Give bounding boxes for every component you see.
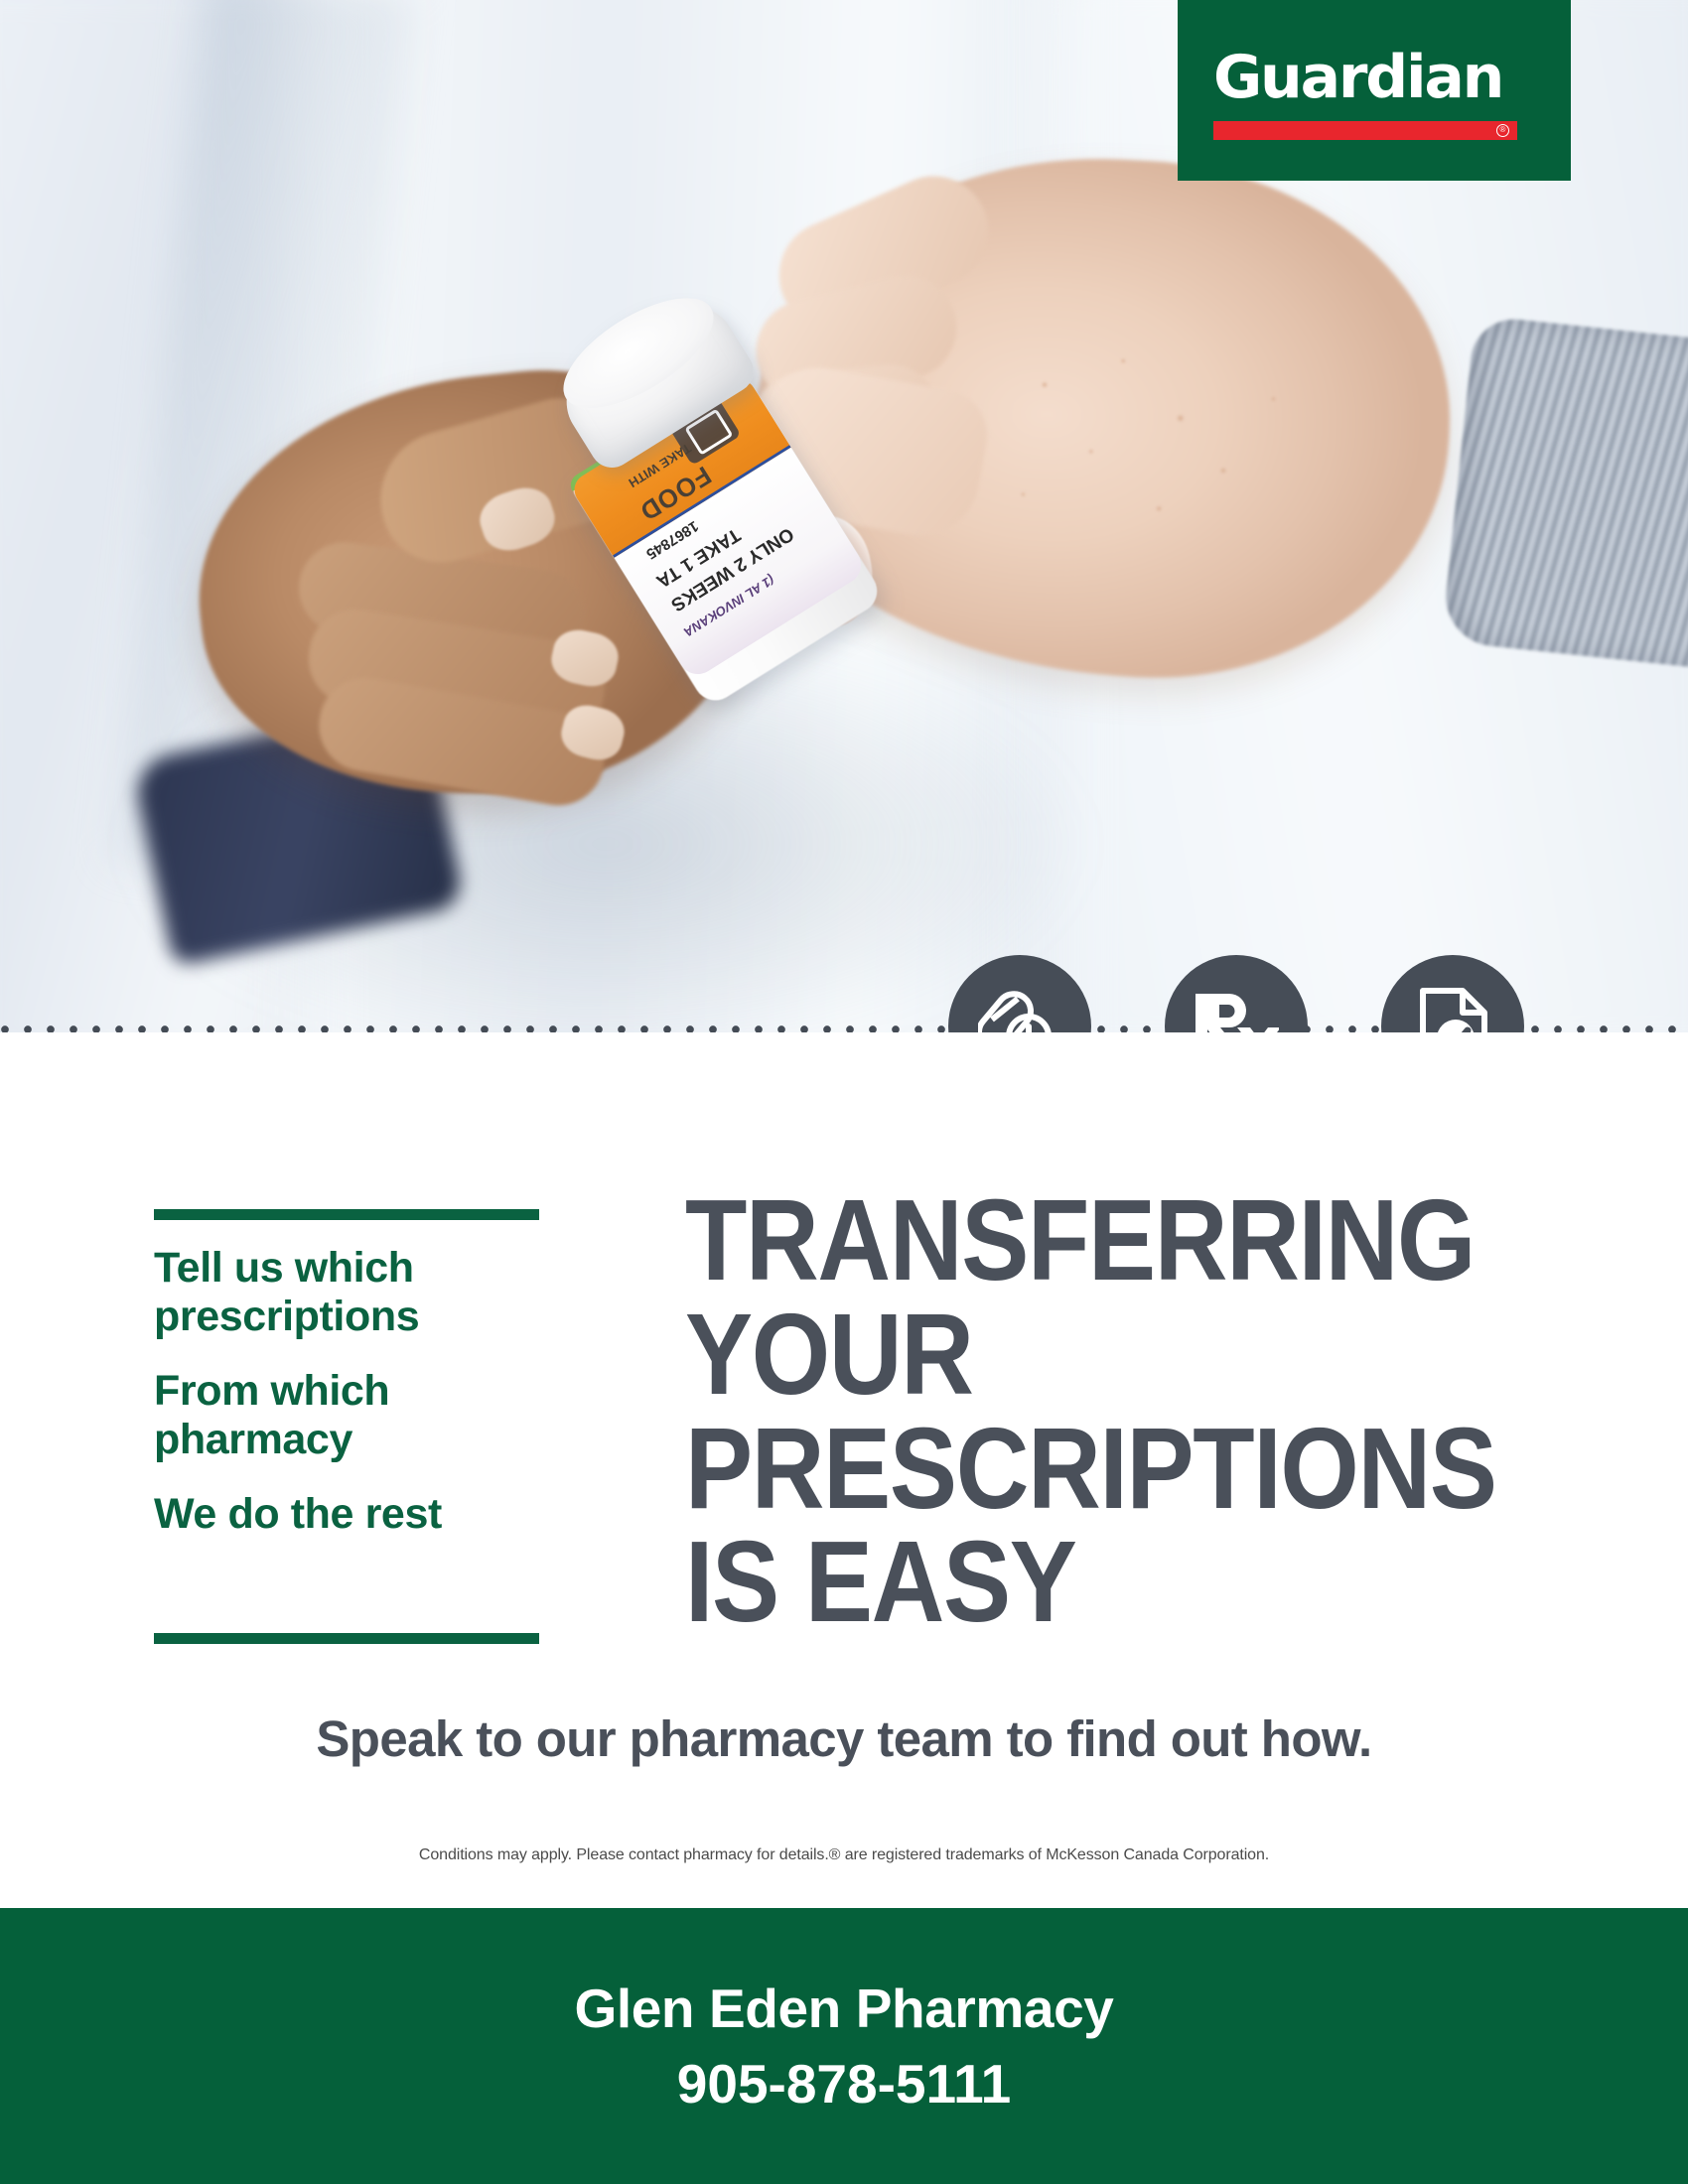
steps-items: Tell us which prescriptions From which p… xyxy=(154,1244,541,1539)
steps-list: Tell us which prescriptions From which p… xyxy=(154,1209,541,1565)
guardian-logo: Guardian ® xyxy=(1178,0,1571,181)
pharmacy-phone[interactable]: 905-878-5111 xyxy=(677,2052,1011,2116)
steps-rule-top xyxy=(154,1209,539,1220)
page-headline: TRANSFERRING YOUR PRESCRIPTIONS IS EASY xyxy=(685,1183,1524,1639)
steps-rule-bottom xyxy=(154,1633,539,1644)
headline-line-4: IS EASY xyxy=(685,1525,1524,1639)
customer-sweater-cuff xyxy=(1441,315,1688,667)
headline-line-1: TRANSFERRING xyxy=(685,1183,1524,1297)
tagline: Speak to our pharmacy team to find out h… xyxy=(0,1709,1688,1768)
headline-line-3: PRESCRIPTIONS xyxy=(685,1412,1524,1526)
disclaimer-text: Conditions may apply. Please contact pha… xyxy=(0,1846,1688,1864)
skin-freckles xyxy=(973,328,1331,566)
registered-trademark-icon: ® xyxy=(1496,124,1509,137)
guardian-logo-text: Guardian xyxy=(1213,48,1535,107)
content-area: Tell us which prescriptions From which p… xyxy=(0,1032,1688,1906)
pharmacy-name: Glen Eden Pharmacy xyxy=(574,1977,1113,2040)
guardian-logo-bar: ® xyxy=(1213,121,1517,140)
step-item-1: Tell us which prescriptions xyxy=(154,1244,541,1341)
step-item-2: From which pharmacy xyxy=(154,1367,541,1464)
pharmacy-footer: Glen Eden Pharmacy 905-878-5111 xyxy=(0,1908,1688,2184)
headline-line-2: YOUR xyxy=(685,1297,1524,1412)
step-item-3: We do the rest xyxy=(154,1490,541,1539)
